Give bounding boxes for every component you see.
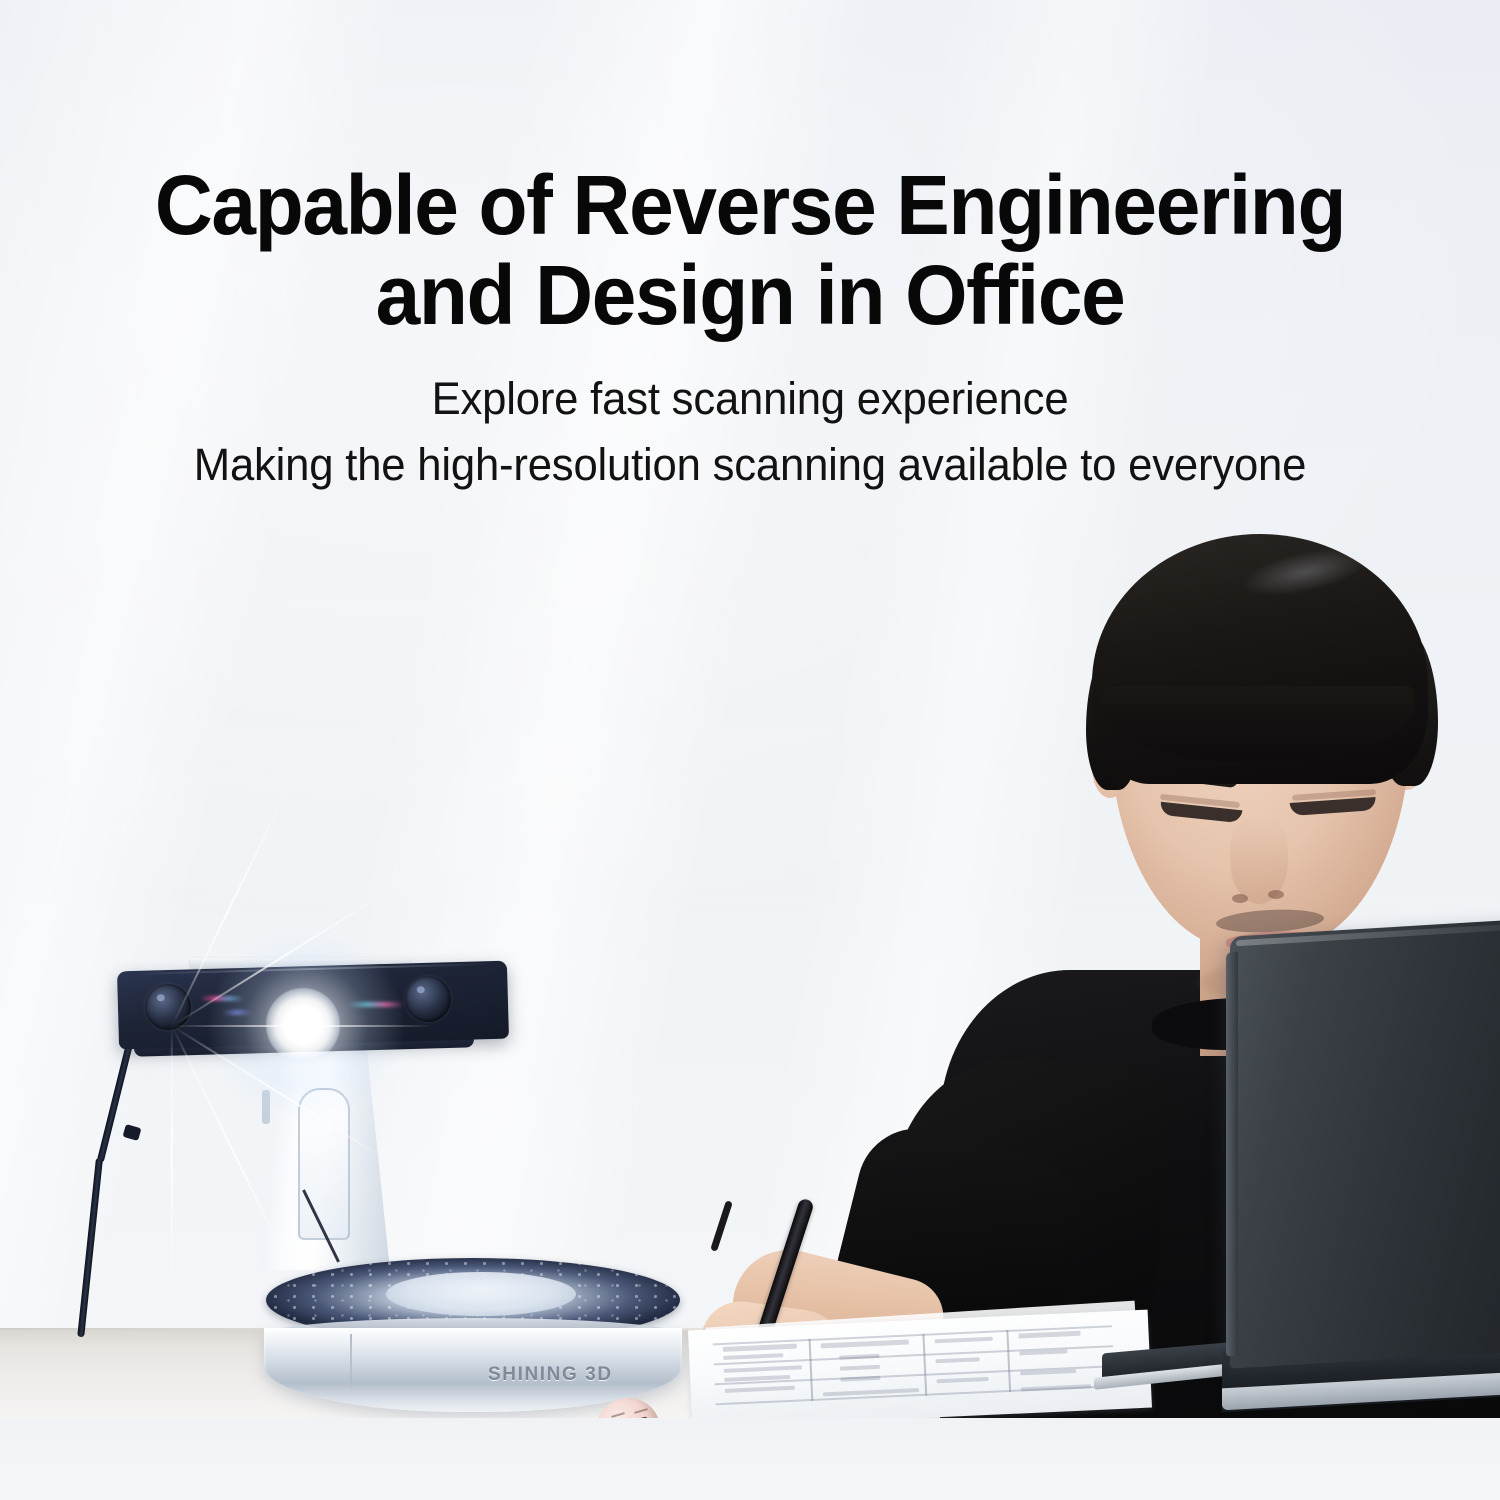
cable-clip <box>123 1124 142 1141</box>
headline-line-1: Capable of Reverse Engineering <box>34 160 1467 250</box>
headline: Capable of Reverse Engineering and Desig… <box>34 160 1467 340</box>
headline-line-2: and Design in Office <box>34 250 1467 340</box>
pen-clip <box>710 1200 733 1252</box>
subtitle-line-2: Making the high-resolution scanning avai… <box>23 438 1478 492</box>
brand-logo: SHINING 3D <box>488 1364 613 1386</box>
turntable-inner-disc <box>386 1272 576 1316</box>
laptop <box>1222 928 1500 1418</box>
laptop-lid-edge <box>1226 952 1238 1357</box>
turntable-seam <box>350 1334 352 1396</box>
person-nostril-right <box>1268 890 1284 899</box>
projector-light <box>266 988 340 1062</box>
scanner-cable-upper <box>97 1035 135 1163</box>
3d-scanner: SHINING 3D <box>90 940 650 1410</box>
subtitle-line-1: Explore fast scanning experience <box>23 372 1478 426</box>
promo-banner: SHINING 3D <box>0 0 1500 1500</box>
flare-ray <box>171 1026 173 1286</box>
person-nostril-left <box>1232 894 1248 903</box>
paper-documents <box>690 1312 1160 1418</box>
motorized-turntable: SHINING 3D <box>258 1258 688 1408</box>
bottom-band <box>0 1418 1500 1500</box>
laptop-lid <box>1230 919 1500 1368</box>
